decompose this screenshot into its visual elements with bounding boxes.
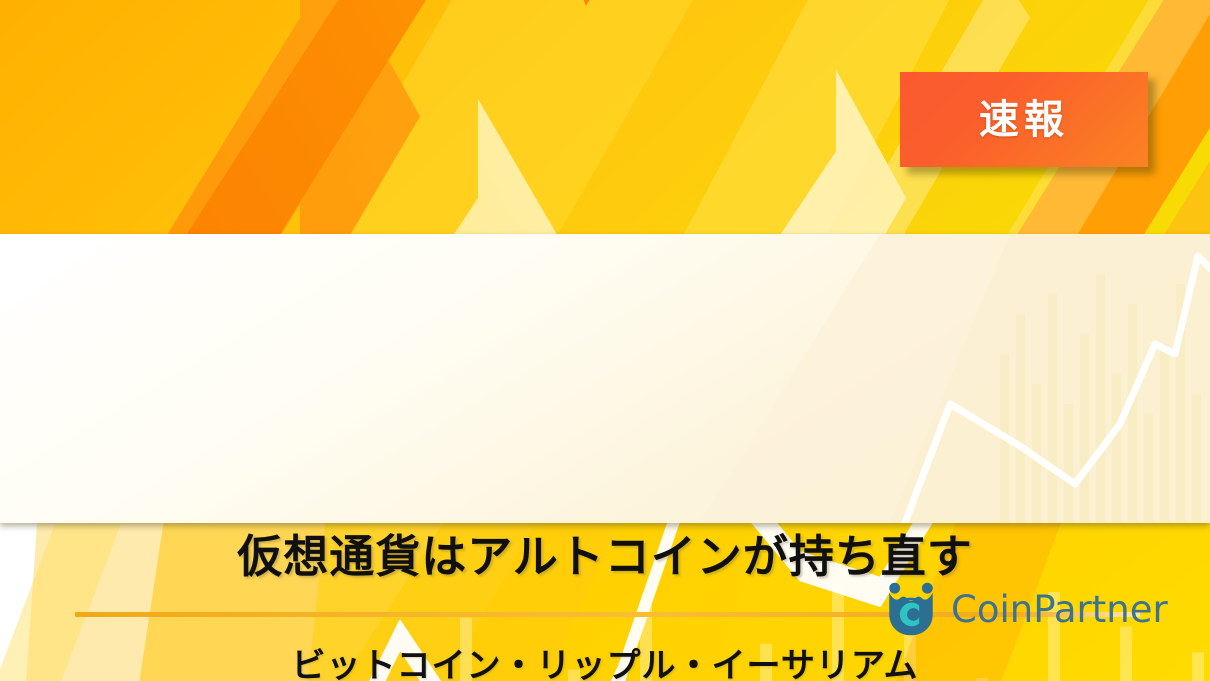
coinpartner-logo-text: CoinPartner xyxy=(951,591,1168,628)
coinpartner-coin-mascot-icon xyxy=(882,580,940,638)
page-title: 仮想通貨はアルトコインが持ち直す xyxy=(0,534,1210,579)
breaking-news-badge[interactable]: 速報 xyxy=(900,72,1148,167)
breaking-news-badge-label: 速報 xyxy=(979,100,1069,140)
title-block: 仮想通貨はアルトコインが持ち直す ビットコイン・リップル・イーサリアム xyxy=(0,234,1210,523)
coinpartner-logo[interactable]: CoinPartner xyxy=(882,578,1168,640)
banner-canvas: 速報 仮想通貨はアルトコインが持ち直す ビットコイン・リップル・イーサリアム C… xyxy=(0,0,1210,681)
page-subtitle: ビットコイン・リップル・イーサリアム xyxy=(0,646,1210,681)
